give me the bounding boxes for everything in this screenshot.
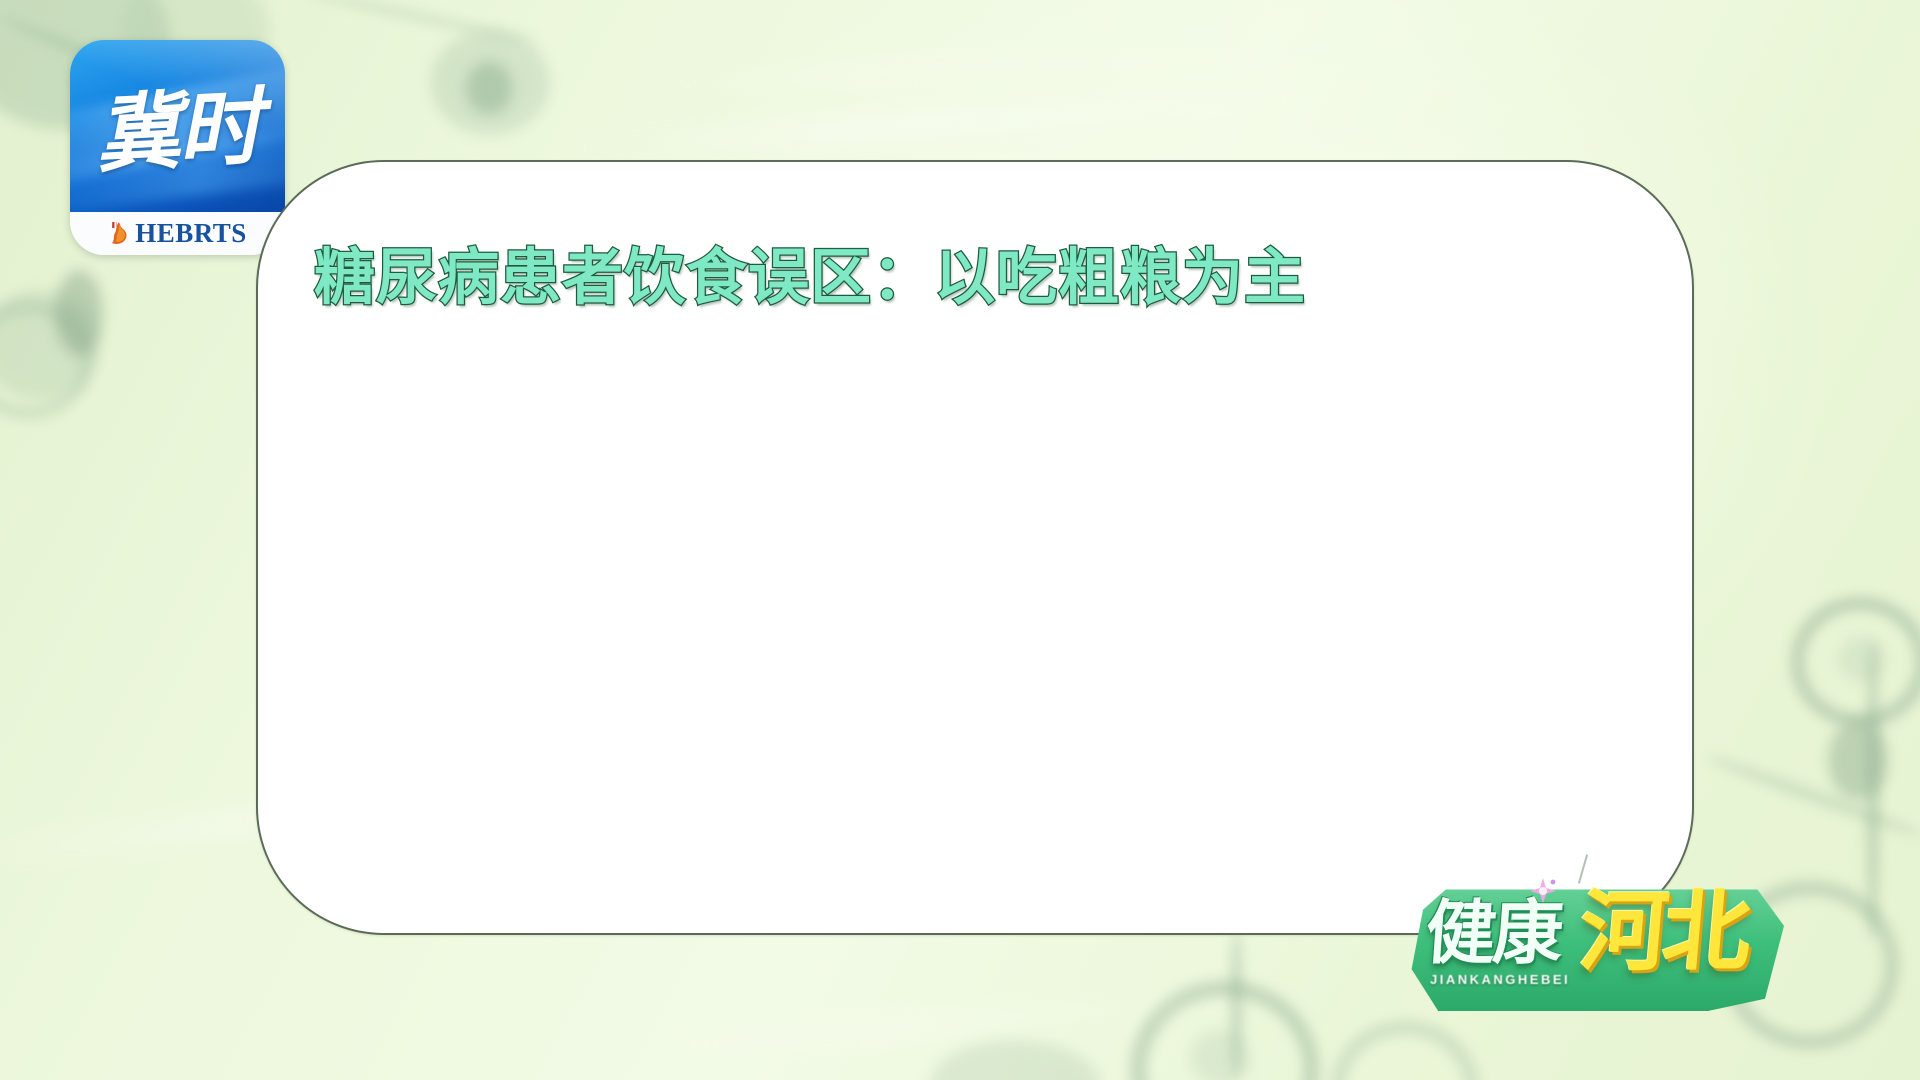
- decor-blob: [0, 290, 100, 400]
- decor-ring: [1130, 980, 1320, 1080]
- channel-logo[interactable]: 冀时 HEBRTS: [70, 40, 285, 255]
- decor-blob: [55, 270, 103, 356]
- decor-blob: [1190, 1030, 1250, 1080]
- decor-stem: [1866, 640, 1880, 940]
- channel-logo-english: HEBRTS: [135, 220, 247, 247]
- decor-streak: [560, 84, 1320, 163]
- decor-stem: [1230, 930, 1243, 1080]
- program-logo-chinese-secondary: 河北: [1576, 888, 1750, 976]
- decor-blob: [466, 62, 512, 114]
- channel-logo-chinese: 冀时: [70, 40, 285, 212]
- decor-blob: [1828, 720, 1888, 800]
- video-frame: 冀时 HEBRTS 糖尿病患者饮食误区：以吃粗粮为主: [0, 0, 1920, 1080]
- flame-mark-icon: [108, 221, 130, 247]
- channel-logo-wordmark-band: HEBRTS: [70, 212, 285, 255]
- page-title: 糖尿病患者饮食误区：以吃粗粮为主: [314, 244, 1306, 312]
- decor-stem: [1705, 751, 1920, 842]
- decor-streak: [640, 983, 1260, 1063]
- program-logo-pinyin: JIANKANGHEBEI: [1430, 972, 1570, 987]
- decor-stem: [302, 0, 539, 47]
- decor-streak: [640, 44, 1240, 93]
- decor-blob: [1838, 636, 1886, 682]
- decor-ring: [1790, 596, 1920, 728]
- program-logo[interactable]: 健康 河北 JIANKANGHEBEI: [1404, 880, 1784, 1015]
- program-logo-chinese-primary: 健康: [1424, 898, 1563, 968]
- content-card: 糖尿病患者饮食误区：以吃粗粮为主: [256, 160, 1694, 935]
- decor-blob: [930, 1040, 1100, 1080]
- decor-ring: [0, 300, 94, 420]
- decor-blob: [430, 30, 550, 135]
- decor-ring: [1330, 1020, 1480, 1080]
- channel-logo-badge: 冀时: [70, 40, 285, 212]
